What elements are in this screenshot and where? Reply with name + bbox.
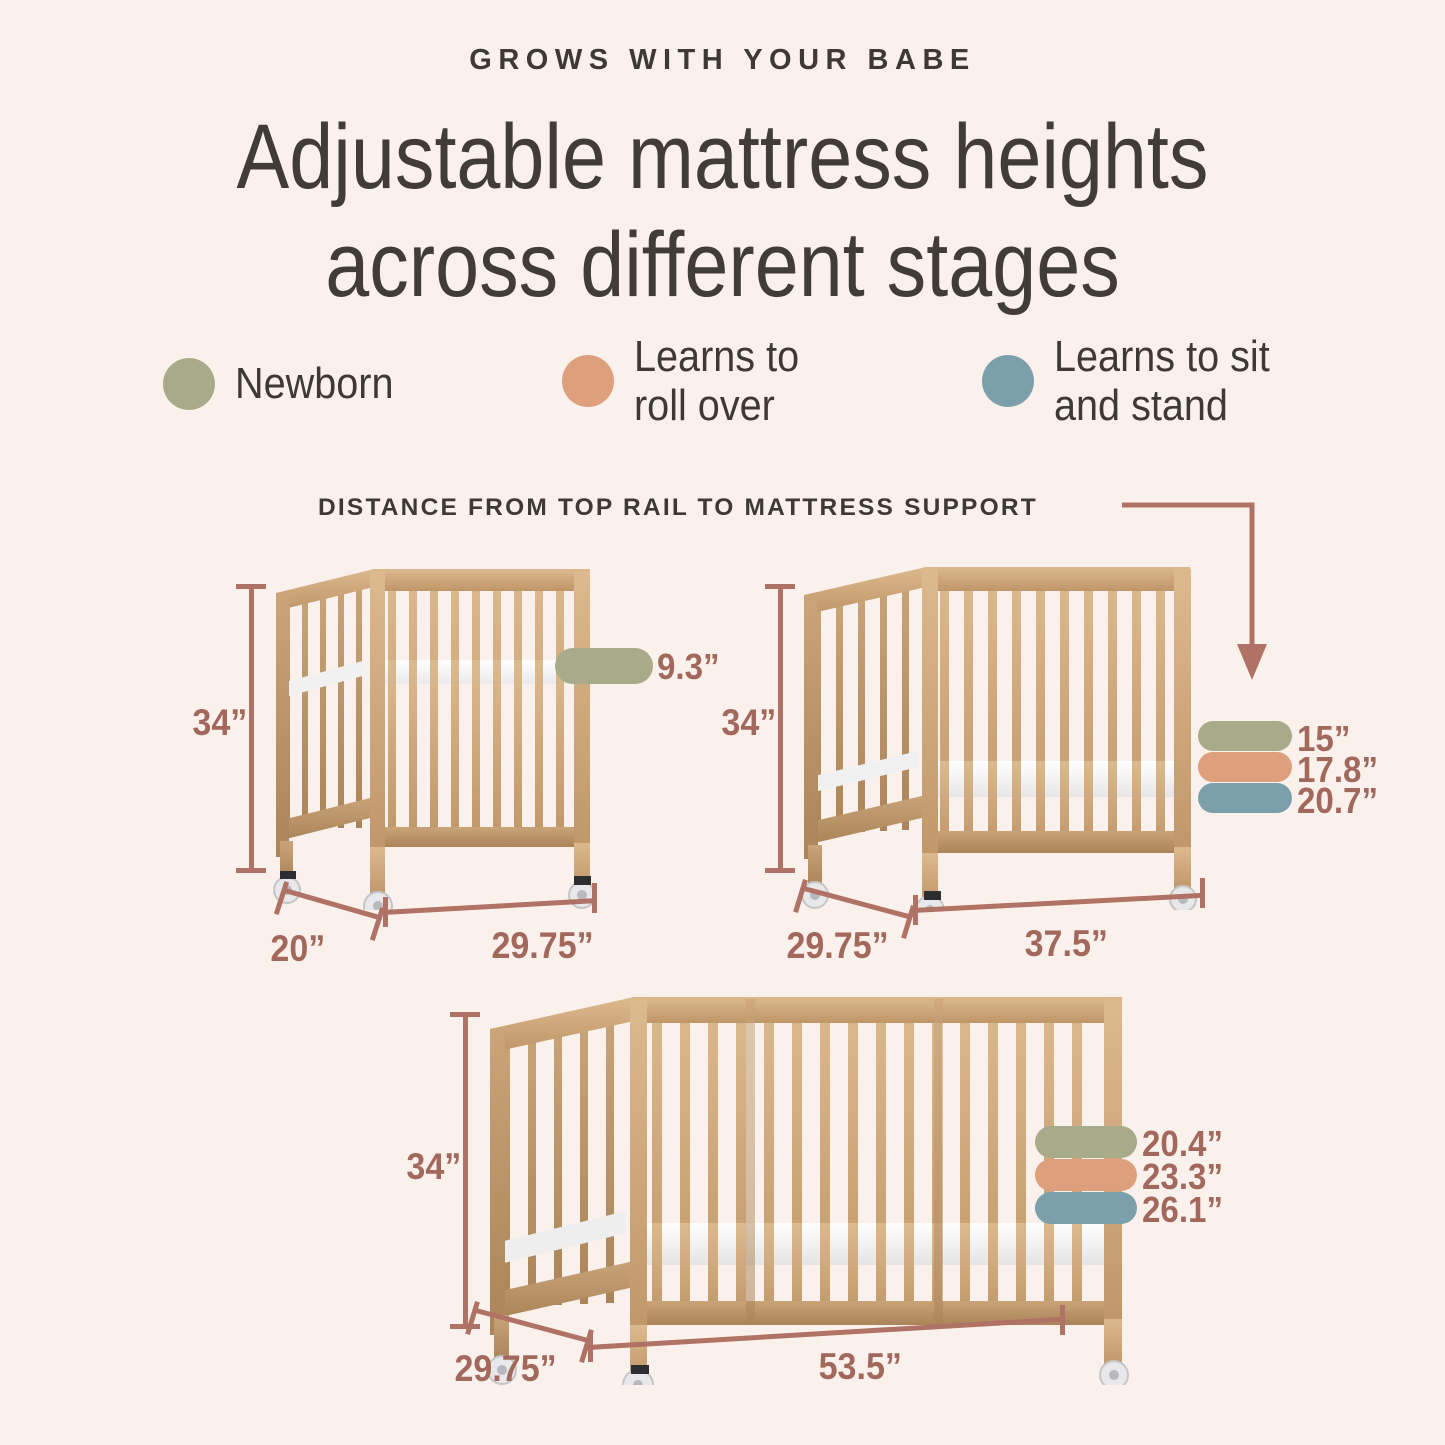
dimension-tick — [1060, 1305, 1065, 1335]
crib-illustration-mini — [262, 565, 606, 910]
dimension-tick — [1200, 878, 1205, 908]
measurement-value-sit-and-stand: 20.7” — [1297, 780, 1378, 822]
dimension-height-value: 34” — [721, 702, 776, 744]
measurement-pill-roll-over — [1035, 1159, 1137, 1191]
dimension-tick — [588, 1332, 593, 1362]
measurement-pill-newborn — [555, 648, 653, 684]
dimension-tick — [765, 868, 795, 873]
crib-figure-full: 34” — [380, 960, 1445, 1445]
dimension-width-value: 37.5” — [1025, 923, 1108, 965]
dimension-line-height — [463, 1012, 468, 1329]
dimension-height-value: 34” — [406, 1146, 461, 1188]
dimension-width-value: 53.5” — [819, 1346, 902, 1388]
dimension-height-value: 34” — [192, 702, 247, 744]
dimension-depth-value: 20” — [270, 928, 325, 970]
crib-svg — [262, 565, 606, 910]
measurement-pill-roll-over — [1198, 752, 1292, 782]
dimension-tick — [913, 895, 918, 925]
dimension-depth-value: 29.75” — [454, 1348, 556, 1390]
measurement-pill-newborn — [1198, 721, 1292, 751]
dimension-tick — [383, 897, 388, 927]
crib-svg — [792, 565, 1212, 910]
dimension-line-height — [249, 584, 254, 873]
crib-figure-mini: 34” — [0, 0, 740, 980]
crib-illustration-mid — [792, 565, 1212, 910]
crib-figure-mid: 34” — [700, 0, 1445, 980]
dimension-tick — [765, 584, 795, 589]
measurement-pill-sit-and-stand — [1198, 783, 1292, 813]
measurement-pill-sit-and-stand — [1035, 1192, 1137, 1224]
dimension-tick — [592, 883, 597, 913]
measurement-pill-newborn — [1035, 1126, 1137, 1158]
infographic-canvas: GROWS WITH YOUR BABE Adjustable mattress… — [0, 0, 1445, 1445]
dimension-line-height — [778, 584, 783, 873]
measurement-value-sit-and-stand: 26.1” — [1142, 1189, 1223, 1231]
